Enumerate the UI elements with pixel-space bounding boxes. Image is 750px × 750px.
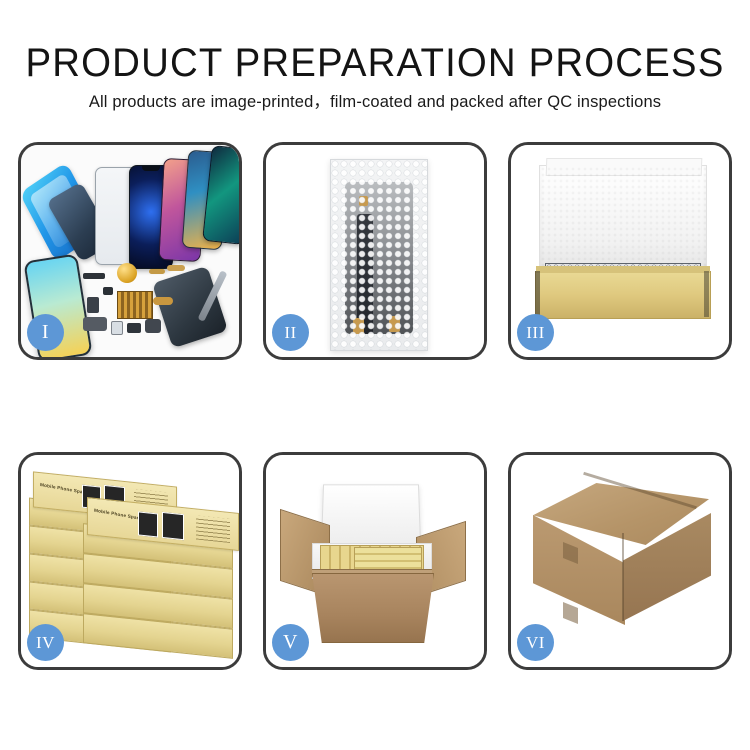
step-panel-1[interactable]: I [18, 142, 242, 360]
component-icon [127, 323, 141, 333]
component-icon [83, 273, 105, 279]
step-badge-2: II [272, 314, 309, 351]
box-window-icon [138, 511, 158, 537]
component-icon [153, 297, 173, 305]
chip-array-icon [117, 291, 153, 319]
step-badge-6: VI [517, 624, 554, 661]
step-panel-3[interactable]: III [508, 142, 732, 360]
bubble-wrap-bag-icon [330, 159, 428, 351]
box-window-icon [162, 512, 184, 540]
kraft-box-tray-icon [535, 271, 711, 319]
foam-lid-icon [539, 165, 707, 275]
bubble-texture [331, 160, 427, 350]
step-panel-5[interactable]: V [263, 452, 487, 670]
foam-texture [540, 166, 706, 274]
step-badge-5: V [272, 624, 309, 661]
step-badge-4: IV [27, 624, 64, 661]
component-icon [167, 265, 185, 271]
box-edge [535, 271, 540, 317]
box-edge [704, 271, 709, 317]
step-badge-1: I [27, 314, 64, 351]
carton-edge [622, 533, 624, 621]
foam-lid-icon [321, 484, 421, 547]
carton-body [312, 573, 434, 643]
step-panel-6[interactable]: VI [508, 452, 732, 670]
charging-coil-icon [117, 263, 137, 283]
component-icon [103, 287, 113, 295]
step-panel-2[interactable]: II [263, 142, 487, 360]
component-icon [83, 317, 107, 331]
step-badge-3: III [517, 314, 554, 351]
component-icon [111, 321, 123, 335]
box-spec-lines [196, 515, 230, 543]
process-step-grid: I II III [0, 0, 750, 750]
step-panel-4[interactable]: Mobile Phone Spare Parts Mobile Phone Sp… [18, 452, 242, 670]
component-icon [149, 269, 165, 274]
component-icon [87, 297, 99, 313]
component-icon [145, 319, 161, 333]
